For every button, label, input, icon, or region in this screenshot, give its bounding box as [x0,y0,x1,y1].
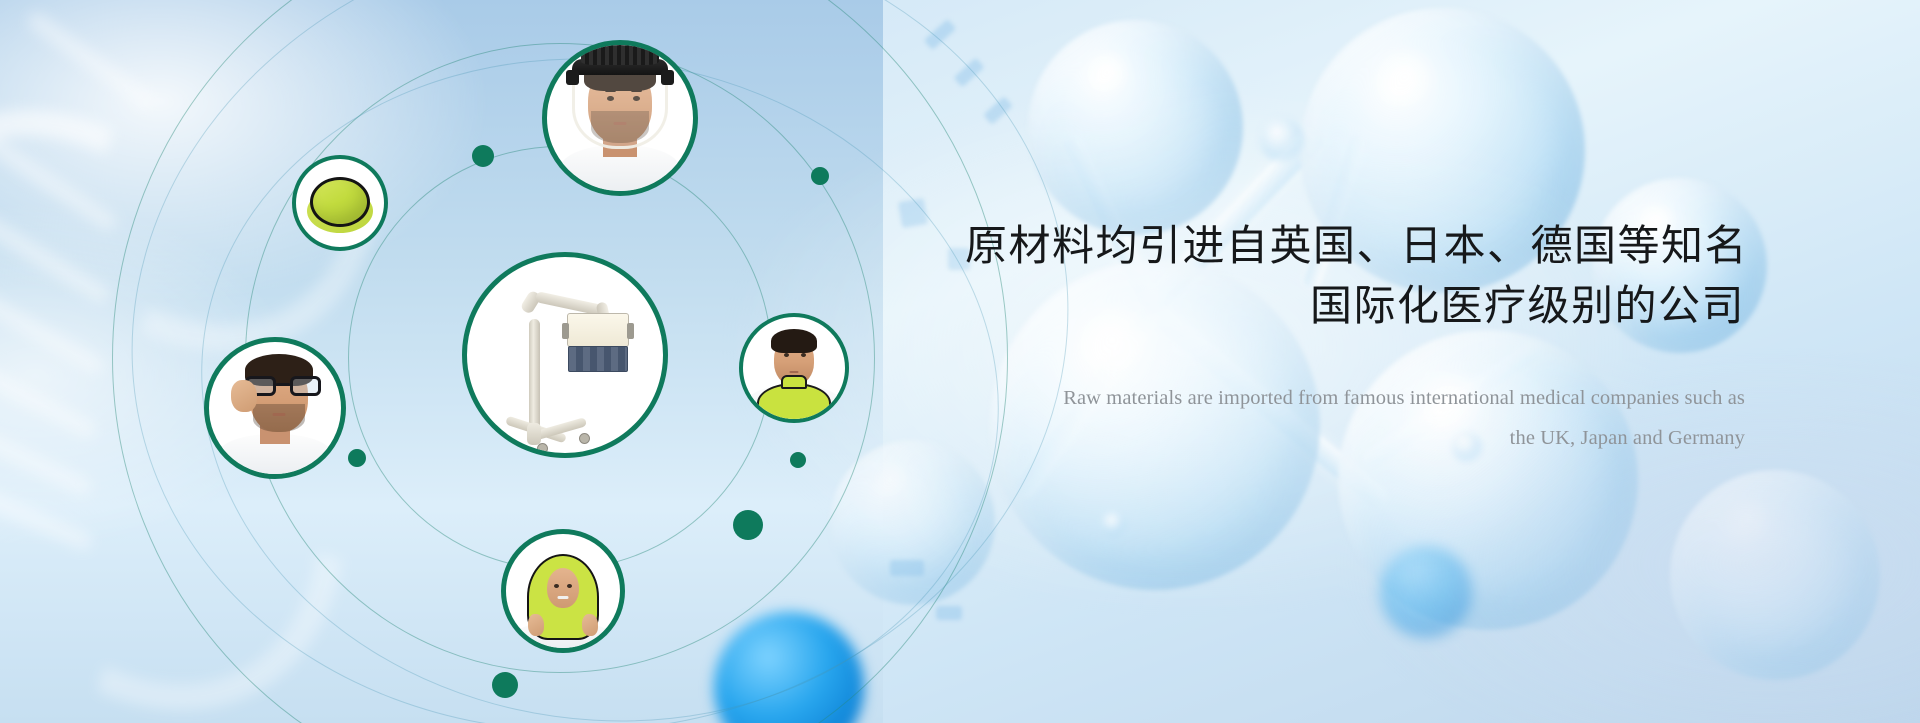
thyroid-collar-product [757,383,831,423]
orbit-node-4 [790,452,806,468]
headline-line-1: 原材料均引进自英国、日本、德国等知名 [965,216,1745,276]
bubble-thyroid-collar[interactable] [739,313,849,423]
hand [231,380,257,412]
bubble-lead-cap[interactable] [292,155,388,251]
subcopy-line-2: the UK, Japan and Germany [965,419,1745,459]
orbit-node-6 [492,672,518,698]
promo-banner: 原材料均引进自英国、日本、德国等知名 国际化医疗级别的公司 Raw materi… [0,0,1920,723]
headline-line-2: 国际化医疗级别的公司 [965,276,1745,336]
lead-cap-product [296,159,384,247]
thyroid-collar-person [743,317,845,419]
copy-block: 原材料均引进自英国、日本、德国等知名 国际化医疗级别的公司 Raw materi… [965,216,1745,459]
orbit-node-3 [348,449,366,467]
orbit-node-2 [811,167,829,185]
bubble-lead-screen[interactable] [462,252,668,458]
subcopy-block: Raw materials are imported from famous i… [965,379,1745,459]
thyroid-collar-neck [781,375,807,389]
orbit-node-1 [472,145,494,167]
subcopy-line-1: Raw materials are imported from famous i… [965,379,1745,419]
bubble-lead-glasses[interactable] [204,337,346,479]
face-shield-crown [581,45,659,65]
bubble-face-shield[interactable] [542,40,698,196]
hood-face-opening [547,568,579,608]
bubble-protective-hood[interactable] [501,529,625,653]
orbit-node-5 [733,510,763,540]
protective-hood-person [506,534,620,648]
lead-screen-product [467,257,663,453]
lead-glasses-person [209,342,341,474]
face-shield-person [547,45,693,191]
